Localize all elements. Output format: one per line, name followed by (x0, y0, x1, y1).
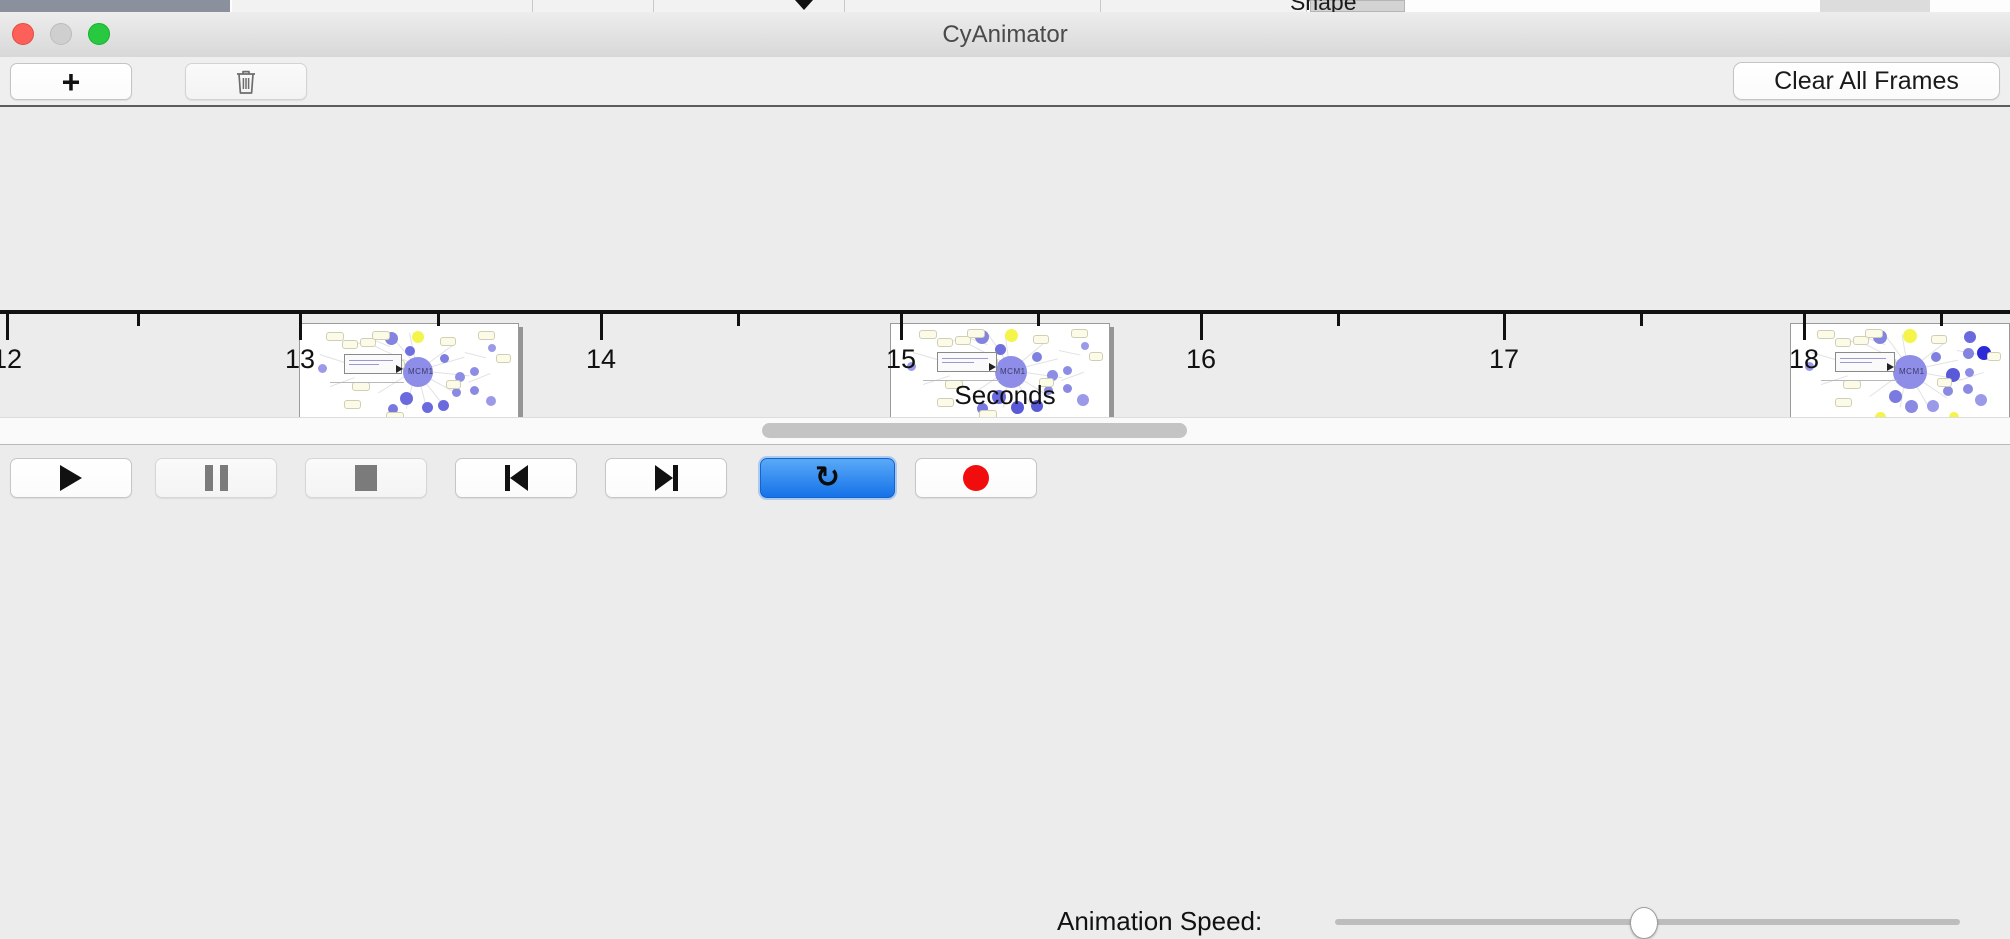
clear-all-frames-button[interactable]: Clear All Frames (1733, 62, 2000, 100)
trash-icon (235, 69, 257, 95)
timeline-scrollbar[interactable] (0, 417, 2010, 445)
node-tooltip (344, 354, 402, 374)
axis-tick-label: 12 (0, 344, 22, 375)
background-titlebar-segment (0, 0, 230, 12)
axis-tick-minor (1640, 312, 1643, 326)
hub-node-label: MCM1 (1899, 367, 1925, 376)
loop-icon: ↻ (815, 463, 840, 493)
previous-frame-button[interactable] (455, 458, 577, 498)
timeline-scrollbar-thumb[interactable] (762, 423, 1187, 438)
playback-controls: ↻ Animation Speed: (0, 444, 2010, 511)
axis-tick-minor (437, 312, 440, 326)
background-shape-label: Shape (1290, 0, 1357, 12)
axis-tick-label: 17 (1489, 344, 1519, 375)
skip-back-icon (505, 465, 528, 491)
axis-tick-minor (737, 312, 740, 326)
axis-title: Seconds (0, 380, 2010, 411)
skip-forward-icon (655, 465, 678, 491)
axis-tick-major (6, 312, 9, 340)
node-tooltip (1835, 352, 1895, 372)
animation-speed-label: Animation Speed: (1057, 906, 1262, 937)
delete-frame-button[interactable] (185, 63, 307, 100)
axis-tick-major (1803, 312, 1806, 340)
plus-icon: + (62, 66, 81, 98)
background-toolbar-segment (533, 0, 654, 12)
play-icon (60, 465, 82, 491)
animation-speed-slider-thumb[interactable] (1630, 907, 1658, 939)
axis-tick-label: 14 (586, 344, 616, 375)
background-toolbar-segment (232, 0, 533, 12)
axis-tick-minor (1337, 312, 1340, 326)
background-window-strip: Shape (0, 0, 2010, 12)
background-cursor-icon (795, 0, 813, 10)
axis-tick-label: 18 (1789, 344, 1819, 375)
axis-tick-major (299, 312, 302, 340)
axis-tick-label: 15 (886, 344, 916, 375)
frame-toolbar: + Clear All Frames (0, 57, 2010, 107)
background-toolbar-segment (654, 0, 845, 12)
next-frame-button[interactable] (605, 458, 727, 498)
axis-tick-label: 13 (285, 344, 315, 375)
hub-node-label: MCM1 (408, 367, 434, 376)
axis-tick-minor (1037, 312, 1040, 326)
window-titlebar: CyAnimator (0, 12, 2010, 58)
axis-tick-major (900, 312, 903, 340)
background-field (1820, 0, 1930, 12)
hub-node-label: MCM1 (1000, 367, 1026, 376)
record-button[interactable] (915, 458, 1037, 498)
clear-all-frames-label: Clear All Frames (1774, 67, 1959, 96)
axis-tick-minor (137, 312, 140, 326)
axis-tick-major (1503, 312, 1506, 340)
frames-timeline-pane[interactable]: MCM1 (0, 107, 2010, 312)
axis-tick-major (600, 312, 603, 340)
stop-button[interactable] (305, 458, 427, 498)
axis-tick-minor (1940, 312, 1943, 326)
axis-tick-major (1200, 312, 1203, 340)
loop-button[interactable]: ↻ (760, 458, 895, 498)
background-toolbar-segment (845, 0, 1101, 12)
add-frame-button[interactable]: + (10, 63, 132, 100)
stop-icon (355, 465, 377, 491)
record-icon (963, 465, 989, 491)
window-title: CyAnimator (0, 12, 2010, 57)
pause-button[interactable] (155, 458, 277, 498)
pause-icon (205, 465, 228, 491)
background-toolbar-segment (1101, 0, 1307, 12)
play-button[interactable] (10, 458, 132, 498)
axis-tick-label: 16 (1186, 344, 1216, 375)
node-tooltip (937, 352, 997, 372)
